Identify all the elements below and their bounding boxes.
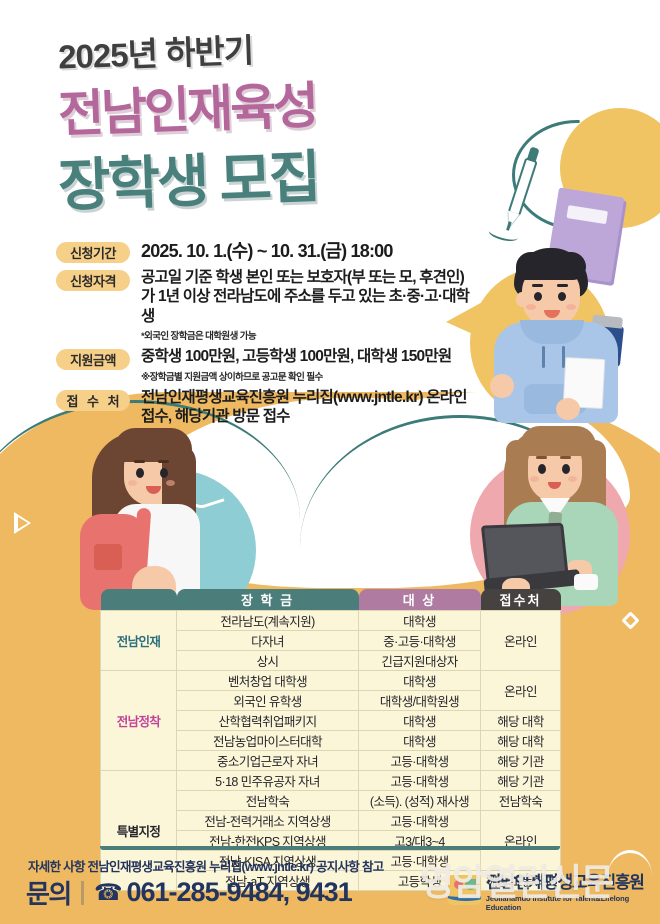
phone-number: 061-285-9484, 9431 (127, 877, 352, 908)
table-row: 전남정착벤처창업 대학생대학생온라인 (101, 670, 561, 690)
institute-logo: 전남인재평생교육진흥원 Jeollanamdo Institute for Ta… (448, 868, 660, 912)
table-cell-target: 대학생 (359, 710, 481, 730)
footer-note: 자세한 사항 전남인재평생교육진흥원 누리집(www.jntle.kr) 공지사… (28, 856, 384, 875)
table-cell-category: 전남인재 (101, 610, 177, 670)
info-row-period: 신청기간 2025. 10. 1.(수) ~ 10. 31.(금) 18:00 (56, 240, 476, 263)
table-cell-scholarship: 외국인 유학생 (177, 690, 359, 710)
logo-name-korean: 전남인재평생교육진흥원 (486, 868, 660, 893)
info-note-amount: ※장학금별 지원금액 상이하므로 공고문 확인 필수 (141, 369, 451, 383)
student-girl-left-illustration (78, 428, 238, 610)
info-value-reception: 전남인재평생교육진흥원 누리집(www.jntle.kr) 온라인 접수, 해당… (141, 388, 476, 427)
table-header-category (101, 589, 177, 610)
logo-mark-icon (448, 875, 481, 905)
table-cell-scholarship: 전라남도(계속지원) (177, 610, 359, 630)
table-cell-target: 고등·대학생 (359, 770, 481, 790)
heading-line-2: 장학생 모집 (57, 131, 320, 222)
student-boy-illustration (478, 248, 638, 423)
divider (81, 881, 84, 905)
table-cell-receipt: 해당 대학 (481, 730, 561, 750)
poster-root: 2025년 하반기 전남인재육성 장학생 모집 신청기간 (0, 0, 660, 924)
table-cell-scholarship: 5·18 민주유공자 자녀 (177, 770, 359, 790)
info-row-amount: 지원금액 중학생 100만원, 고등학생 100만원, 대학생 150만원 ※장… (56, 347, 476, 382)
telephone-icon: ☎ (94, 879, 123, 906)
table-cell-target: 대학생 (359, 610, 481, 630)
info-label-period: 신청기간 (56, 242, 130, 263)
table-cell-scholarship: 전남-전력거래소 지역상생 (177, 810, 359, 830)
info-label-amount: 지원금액 (56, 349, 130, 370)
table-row: 전남인재전라남도(계속지원)대학생온라인 (101, 610, 561, 630)
info-value-period: 2025. 10. 1.(수) ~ 10. 31.(금) 18:00 (141, 240, 393, 263)
table-cell-target: 대학생/대학원생 (359, 690, 481, 710)
info-note-eligibility: *외국인 장학금은 대학원생 가능 (141, 328, 476, 342)
table-cell-target: 긴급지원대상자 (359, 650, 481, 670)
table-bottom-bar (100, 846, 560, 850)
table-cell-target: 고등·대학생 (359, 810, 481, 830)
table-cell-receipt: 전남학숙 (481, 790, 561, 810)
table-cell-target: 고등·대학생 (359, 750, 481, 770)
table-cell-scholarship: 벤처창업 대학생 (177, 670, 359, 690)
info-row-eligibility: 신청자격 공고일 기준 학생 본인 또는 보호자(부 또는 모, 후견인)가 1… (56, 268, 476, 342)
table-cell-scholarship: 전남학숙 (177, 790, 359, 810)
triangle-decoration-inner (18, 517, 28, 529)
table-cell-scholarship: 중소기업근로자 자녀 (177, 750, 359, 770)
info-label-eligibility: 신청자격 (56, 270, 130, 291)
table-cell-receipt: 온라인 (481, 610, 561, 670)
table-cell-scholarship: 전남농업마이스터대학 (177, 730, 359, 750)
table-cell-scholarship: 다자녀 (177, 630, 359, 650)
student-girl-right-illustration (480, 424, 650, 610)
info-value-eligibility: 공고일 기준 학생 본인 또는 보호자(부 또는 모, 후견인)가 1년 이상 … (141, 268, 476, 326)
table-cell-target: 중·고등·대학생 (359, 630, 481, 650)
inquiry-label: 문의 (26, 874, 71, 911)
table-cell-scholarship: 상시 (177, 650, 359, 670)
logo-name-english: Jeollanamdo Institute for Talent&Lifelon… (486, 894, 660, 912)
info-value-amount: 중학생 100만원, 고등학생 100만원, 대학생 150만원 (141, 347, 451, 366)
table-row: 특별지정5·18 민주유공자 자녀고등·대학생해당 기관 (101, 770, 561, 790)
table-cell-target: (소득). (성적) 재사생 (359, 790, 481, 810)
table-cell-receipt: 해당 기관 (481, 750, 561, 770)
info-list: 신청기간 2025. 10. 1.(수) ~ 10. 31.(금) 18:00 … (56, 240, 476, 431)
table-cell-receipt: 해당 대학 (481, 710, 561, 730)
poster-heading: 2025년 하반기 전남인재육성 장학생 모집 (58, 26, 318, 218)
info-row-reception: 접 수 처 전남인재평생교육진흥원 누리집(www.jntle.kr) 온라인 … (56, 388, 476, 427)
table-cell-category: 전남정착 (101, 670, 177, 770)
footer-contact: 문의 ☎ 061-285-9484, 9431 (26, 874, 352, 911)
table-cell-scholarship: 산학협력취업패키지 (177, 710, 359, 730)
table-cell-receipt: 해당 기관 (481, 770, 561, 790)
table-header-target: 대 상 (359, 589, 481, 610)
table-cell-receipt: 온라인 (481, 670, 561, 710)
table-cell-target: 대학생 (359, 730, 481, 750)
table-header-row: 장 학 금 대 상 접수처 (101, 589, 561, 610)
table-header-scholarship: 장 학 금 (177, 589, 359, 610)
info-label-reception: 접 수 처 (56, 390, 130, 411)
table-header-receipt: 접수처 (481, 589, 561, 610)
table-cell-target: 대학생 (359, 670, 481, 690)
